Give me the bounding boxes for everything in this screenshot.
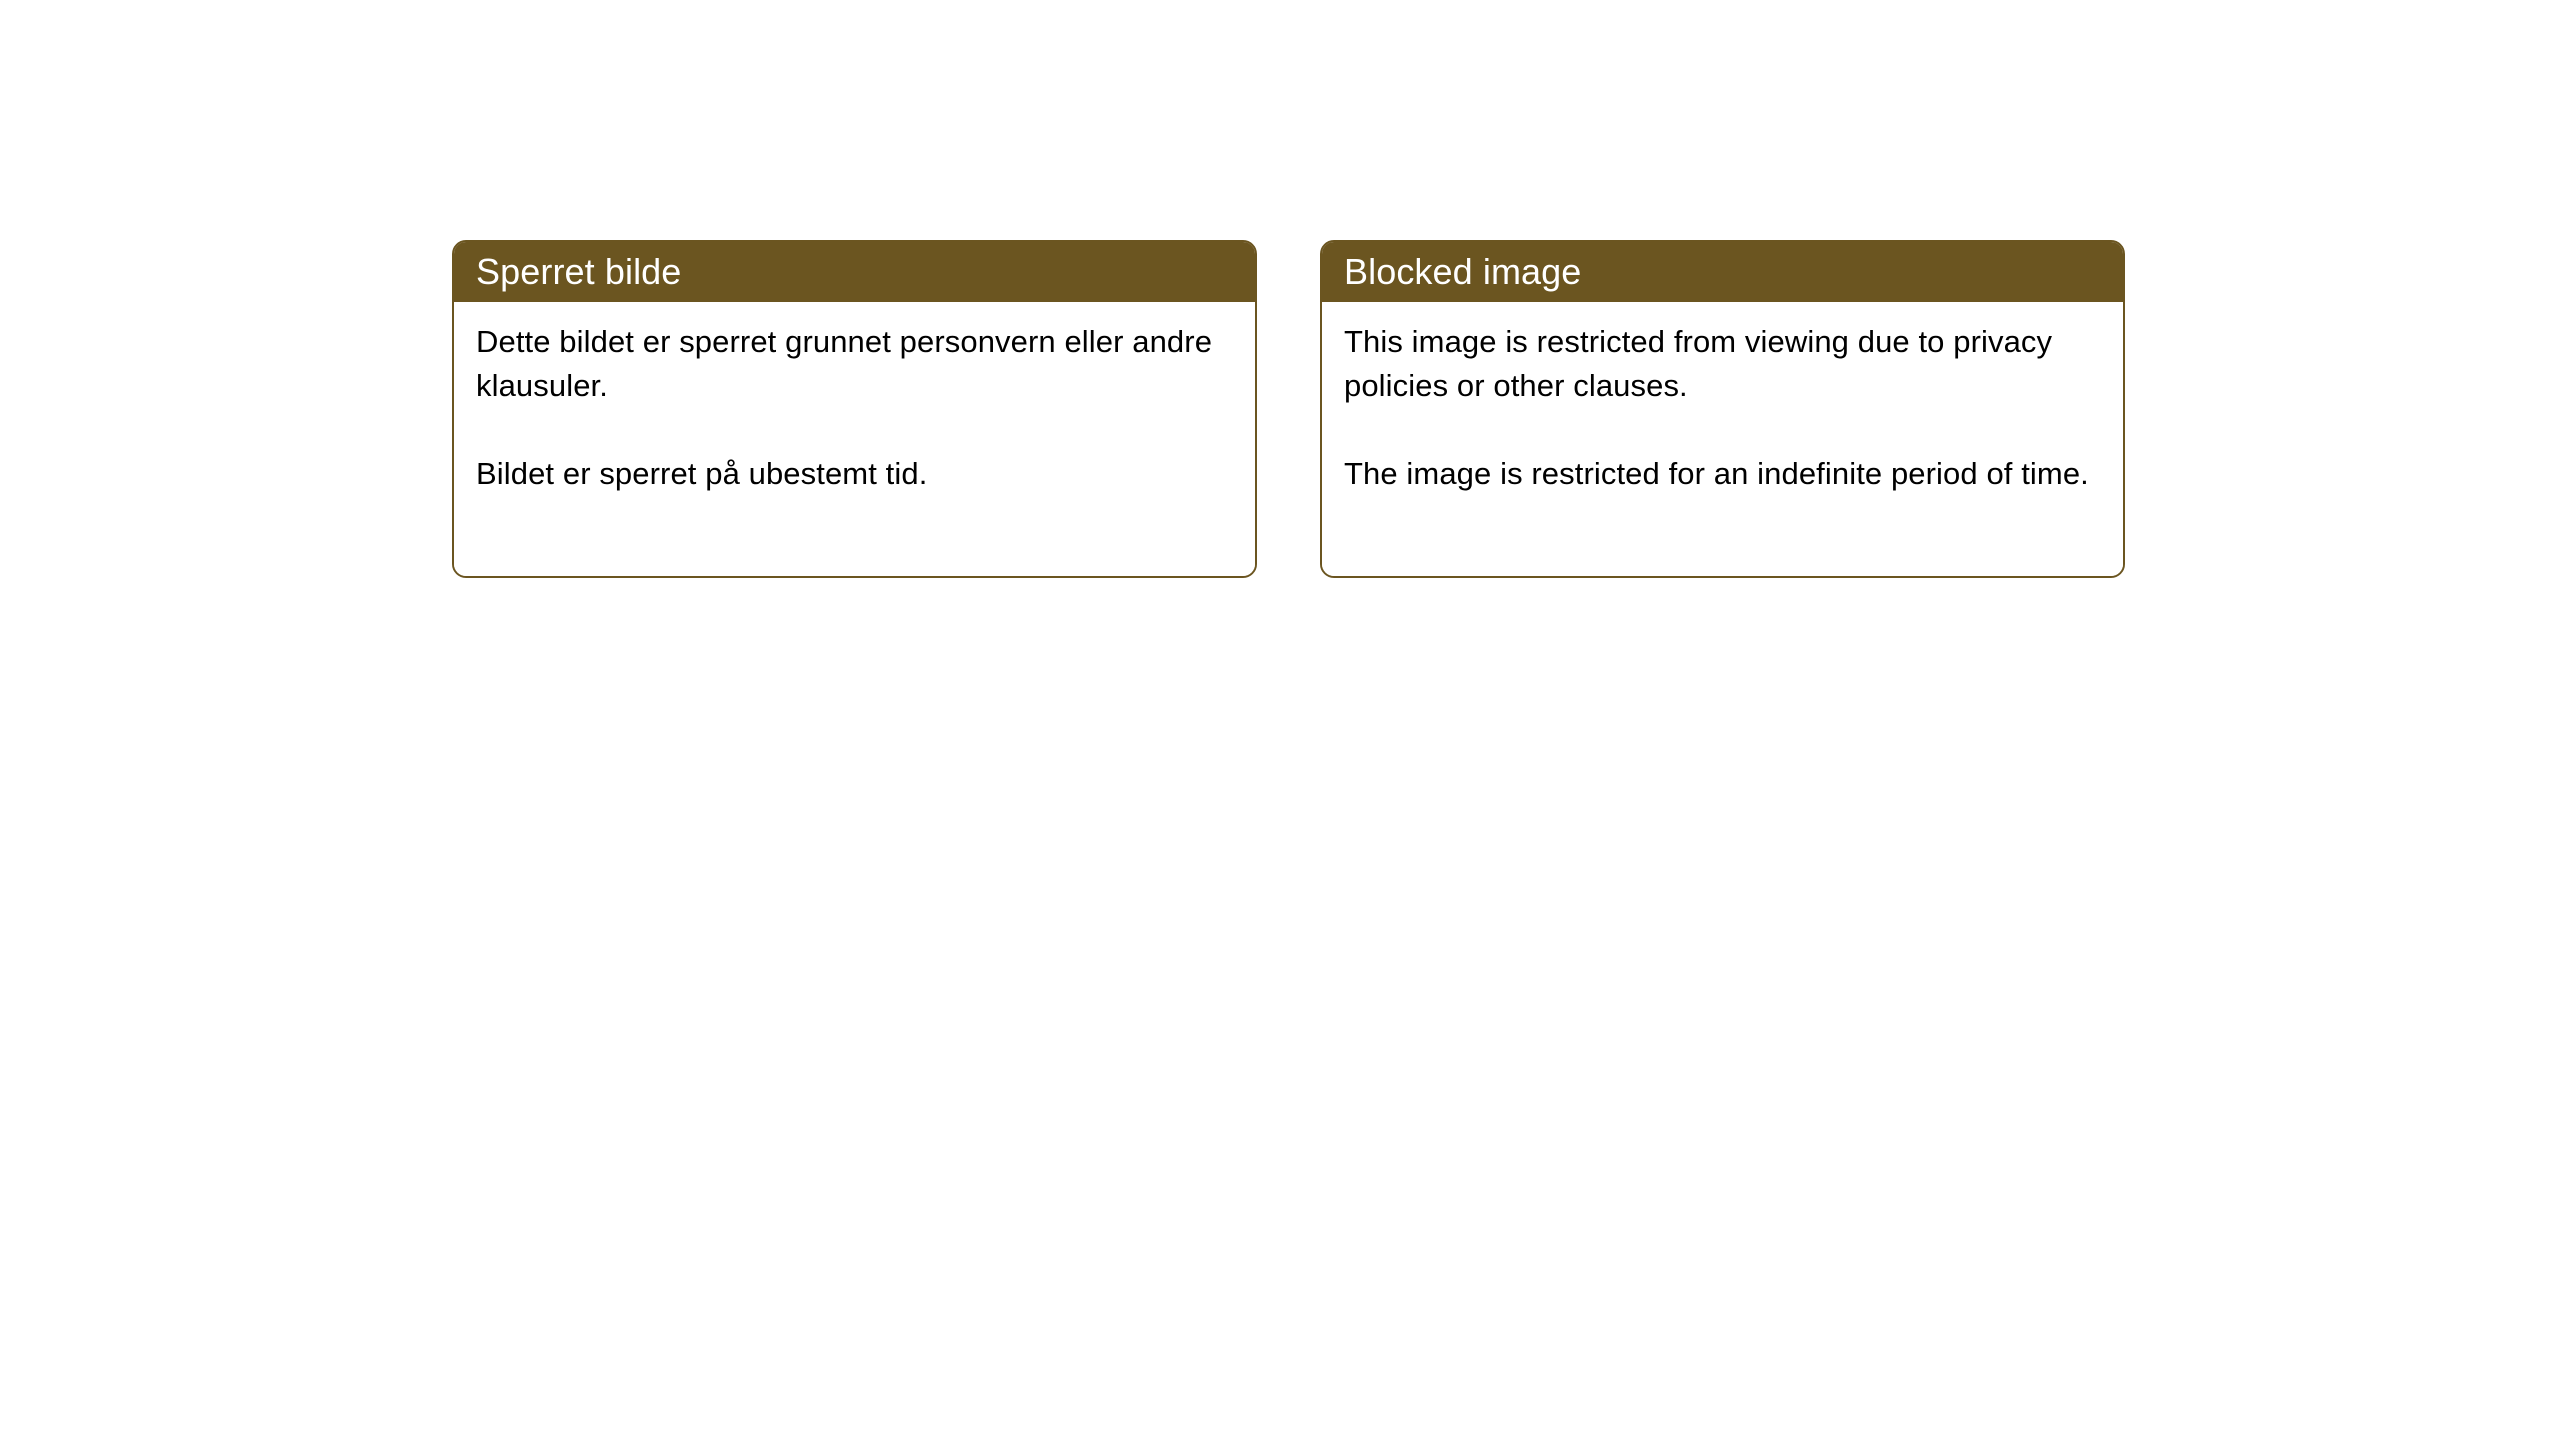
- card-paragraph-primary-norwegian: Dette bildet er sperret grunnet personve…: [476, 320, 1233, 408]
- blocked-image-card-norwegian: Sperret bilde Dette bildet er sperret gr…: [452, 240, 1257, 578]
- page-canvas: Sperret bilde Dette bildet er sperret gr…: [0, 0, 2560, 1440]
- blocked-image-card-english: Blocked image This image is restricted f…: [1320, 240, 2125, 578]
- card-title-english: Blocked image: [1344, 254, 1581, 290]
- card-body-norwegian: Dette bildet er sperret grunnet personve…: [454, 302, 1255, 576]
- paragraph-spacer: [476, 408, 1233, 452]
- card-body-english: This image is restricted from viewing du…: [1322, 302, 2123, 576]
- paragraph-spacer: [1344, 408, 2101, 452]
- card-paragraph-secondary-english: The image is restricted for an indefinit…: [1344, 452, 2101, 496]
- card-paragraph-secondary-norwegian: Bildet er sperret på ubestemt tid.: [476, 452, 1233, 496]
- card-header-norwegian: Sperret bilde: [454, 242, 1255, 302]
- card-paragraph-primary-english: This image is restricted from viewing du…: [1344, 320, 2101, 408]
- card-title-norwegian: Sperret bilde: [476, 254, 681, 290]
- card-header-english: Blocked image: [1322, 242, 2123, 302]
